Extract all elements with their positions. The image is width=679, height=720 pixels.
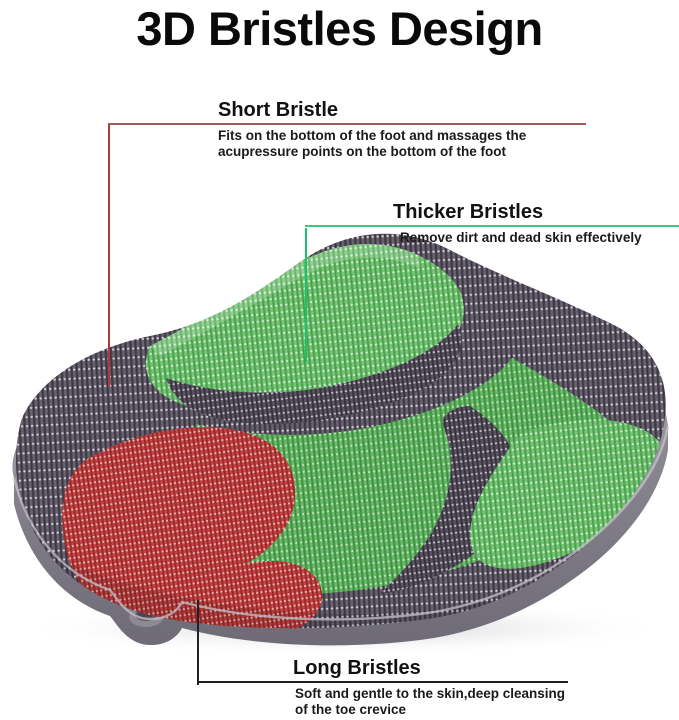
callout-thicker-bristles-rule <box>305 225 679 227</box>
callout-long-bristles-rule <box>197 681 568 683</box>
product-illustration <box>0 228 679 653</box>
callout-short-bristle-title: Short Bristle <box>108 98 586 122</box>
product-svg <box>0 228 679 653</box>
callout-short-bristle: Short Bristle Fits on the bottom of the … <box>108 98 586 160</box>
leader-line-thicker-bristles <box>305 228 307 362</box>
callout-long-bristles: Long Bristles Soft and gentle to the ski… <box>197 656 568 718</box>
callout-thicker-bristles-title: Thicker Bristles <box>305 200 679 224</box>
callout-long-bristles-title: Long Bristles <box>197 656 568 680</box>
callout-long-bristles-description: Soft and gentle to the skin,deep cleansi… <box>197 686 568 718</box>
leader-line-short-bristle <box>108 125 110 387</box>
page-title: 3D Bristles Design <box>0 2 679 56</box>
infographic-page: 3D Bristles Design <box>0 0 679 720</box>
callout-short-bristle-description: Fits on the bottom of the foot and massa… <box>108 128 586 160</box>
bristle-field <box>0 228 679 653</box>
callout-short-bristle-rule <box>108 123 586 125</box>
callout-thicker-bristles-description: Remove dirt and dead skin effectively <box>305 230 679 246</box>
callout-thicker-bristles: Thicker Bristles Remove dirt and dead sk… <box>305 200 679 246</box>
